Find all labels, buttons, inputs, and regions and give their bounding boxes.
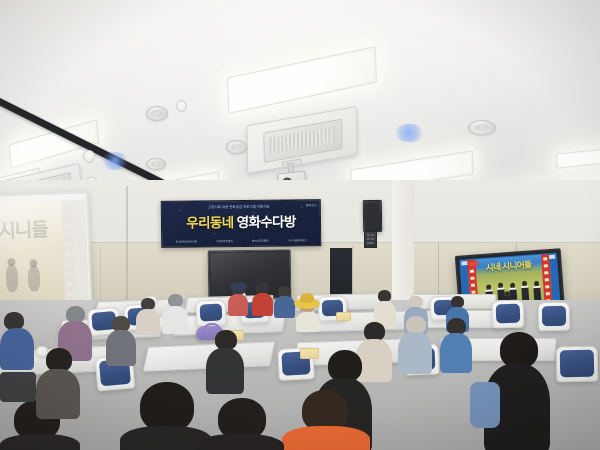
attendee bbox=[274, 286, 295, 316]
attendee bbox=[440, 318, 472, 368]
banner-title: 우리동네 영화수다방 bbox=[162, 210, 320, 232]
ceiling-speaker-icon bbox=[146, 158, 166, 170]
ceiling-sensor-icon bbox=[176, 100, 187, 112]
attendee-orange-shirt bbox=[282, 390, 370, 450]
denim-item bbox=[470, 382, 500, 428]
attendee bbox=[228, 284, 248, 314]
attendee bbox=[206, 330, 244, 390]
wall-speaker bbox=[363, 200, 383, 232]
attendee bbox=[36, 348, 80, 414]
ceiling-speaker-icon bbox=[146, 106, 168, 121]
sponsor-logo: 한국문화예술위원회 bbox=[176, 239, 198, 243]
sponsor-logo: 지역문화진흥원 bbox=[216, 239, 233, 243]
attendee bbox=[136, 298, 160, 332]
banner-brand: 영화공간 bbox=[306, 203, 317, 207]
blue-indicator-light bbox=[100, 152, 130, 170]
ceiling-sensor-icon bbox=[83, 150, 95, 163]
ceiling-speaker-icon bbox=[226, 140, 247, 154]
sponsor-logo: 시니어영화제작단 bbox=[288, 238, 307, 242]
tile-seam bbox=[100, 247, 101, 302]
seminar-room-photo: 시니들 고령사회 대응 문화공감 프로그램 지원사업 우리동네 영화수다방 영화… bbox=[0, 0, 600, 450]
chair bbox=[492, 299, 525, 328]
attendee bbox=[162, 294, 188, 330]
projection-screen: 시니들 bbox=[0, 191, 92, 306]
event-banner: 고령사회 대응 문화공감 프로그램 지원사업 우리동네 영화수다방 영화공간 한… bbox=[161, 199, 321, 248]
attendee-foreground bbox=[196, 398, 284, 450]
sponsor-logo: 평생교육진흥원 bbox=[252, 239, 269, 243]
attendee bbox=[106, 316, 136, 362]
floor-bag bbox=[0, 372, 36, 402]
blue-indicator-light bbox=[392, 124, 426, 142]
chair bbox=[556, 346, 599, 383]
attendee bbox=[374, 290, 396, 326]
snack-item bbox=[336, 312, 351, 321]
attendee bbox=[0, 312, 34, 364]
attendee bbox=[252, 282, 273, 314]
banner-title-part2: 영화수다방 bbox=[237, 214, 296, 230]
attendee-yellow-hat bbox=[294, 296, 320, 328]
chair bbox=[538, 302, 571, 332]
wall-control-panel[interactable] bbox=[364, 231, 377, 248]
banner-title-part1: 우리동네 bbox=[186, 215, 233, 230]
poster-badge bbox=[469, 261, 478, 266]
movie-poster-title: 시네 시니어들 bbox=[467, 257, 550, 275]
ceiling-speaker-icon bbox=[468, 120, 496, 135]
attendee-elderly bbox=[398, 316, 432, 370]
wall-seam bbox=[126, 186, 128, 306]
